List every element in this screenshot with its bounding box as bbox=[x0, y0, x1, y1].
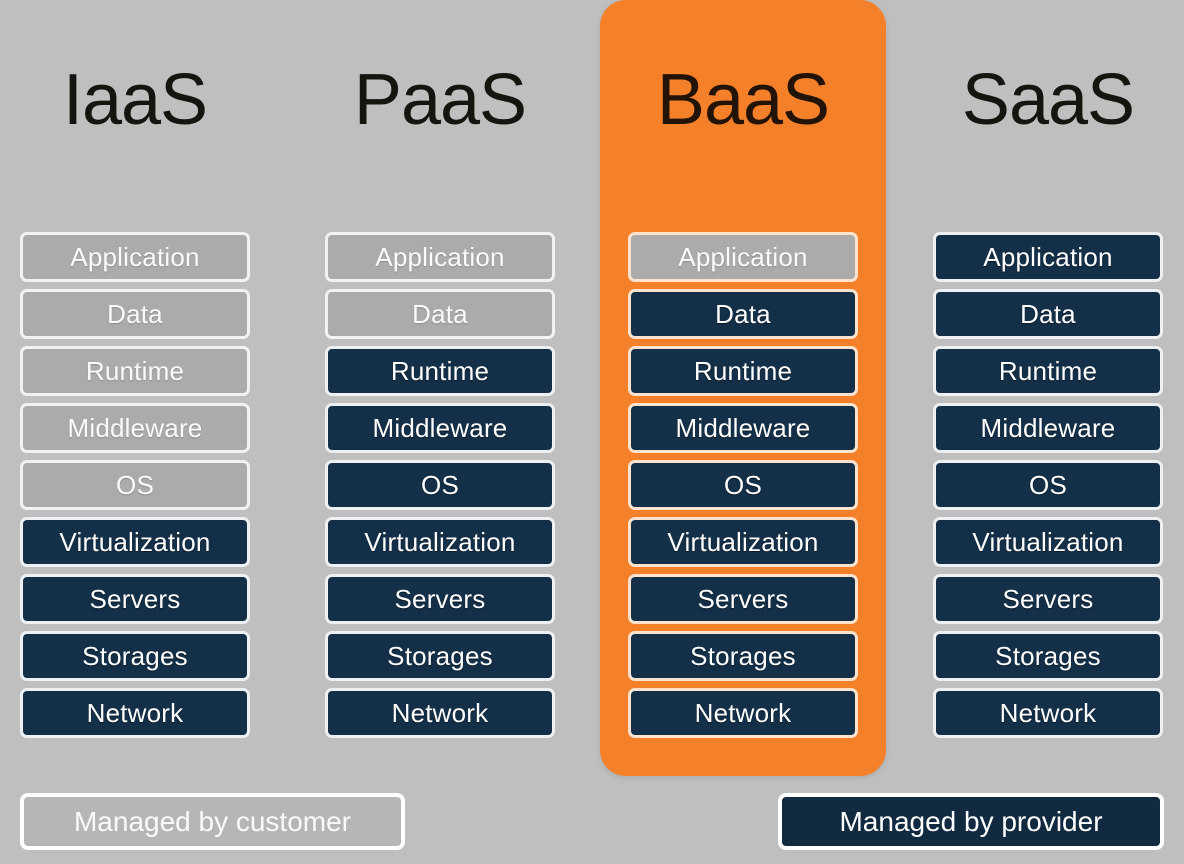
cloud-service-model-diagram: IaaS Application Data Runtime Middleware… bbox=[0, 0, 1184, 864]
legend-managed-by-customer: Managed by customer bbox=[20, 793, 405, 850]
layer-row: Servers bbox=[325, 574, 555, 624]
layer-label: OS bbox=[421, 470, 459, 501]
layer-row: OS bbox=[628, 460, 858, 510]
layer-label: Servers bbox=[698, 584, 789, 615]
layer-row: Data bbox=[933, 289, 1163, 339]
layer-label: Servers bbox=[1003, 584, 1094, 615]
layer-row: Application bbox=[933, 232, 1163, 282]
layer-label: Data bbox=[107, 299, 163, 330]
layer-row: Virtualization bbox=[628, 517, 858, 567]
layer-label: Network bbox=[392, 698, 489, 729]
layer-label: Runtime bbox=[391, 356, 489, 387]
legend-provider-label: Managed by provider bbox=[839, 806, 1102, 838]
layer-label: Virtualization bbox=[59, 527, 210, 558]
layer-row: Data bbox=[20, 289, 250, 339]
layer-label: Data bbox=[1020, 299, 1076, 330]
layer-row: Application bbox=[325, 232, 555, 282]
layer-row: Middleware bbox=[933, 403, 1163, 453]
column-title-baas: BaaS bbox=[628, 58, 858, 142]
layer-row: Middleware bbox=[20, 403, 250, 453]
layer-row: Network bbox=[20, 688, 250, 738]
layer-label: Application bbox=[375, 242, 504, 273]
layer-row: Storages bbox=[20, 631, 250, 681]
layer-label: Application bbox=[70, 242, 199, 273]
layer-label: Virtualization bbox=[364, 527, 515, 558]
layer-label: Middleware bbox=[981, 413, 1116, 444]
layer-label: Application bbox=[678, 242, 807, 273]
layer-row: Storages bbox=[933, 631, 1163, 681]
layer-row: Runtime bbox=[628, 346, 858, 396]
layer-label: Network bbox=[87, 698, 184, 729]
layer-label: Middleware bbox=[373, 413, 508, 444]
legend-managed-by-provider: Managed by provider bbox=[778, 793, 1164, 850]
column-title-saas: SaaS bbox=[933, 58, 1163, 142]
layer-row: OS bbox=[20, 460, 250, 510]
layer-row: OS bbox=[933, 460, 1163, 510]
layer-label: Middleware bbox=[68, 413, 203, 444]
layer-label: OS bbox=[116, 470, 154, 501]
layer-row: Storages bbox=[325, 631, 555, 681]
layer-row: Network bbox=[628, 688, 858, 738]
layer-row: OS bbox=[325, 460, 555, 510]
layer-stack-saas: Application Data Runtime Middleware OS V… bbox=[933, 232, 1163, 745]
layer-row: Application bbox=[20, 232, 250, 282]
column-title-paas: PaaS bbox=[325, 58, 555, 142]
layer-label: Storages bbox=[995, 641, 1101, 672]
layer-row: Runtime bbox=[325, 346, 555, 396]
layer-label: Runtime bbox=[999, 356, 1097, 387]
layer-row: Data bbox=[325, 289, 555, 339]
layer-label: Virtualization bbox=[972, 527, 1123, 558]
layer-row: Virtualization bbox=[325, 517, 555, 567]
layer-stack-baas: Application Data Runtime Middleware OS V… bbox=[628, 232, 858, 745]
layer-row: Network bbox=[933, 688, 1163, 738]
layer-row: Storages bbox=[628, 631, 858, 681]
layer-label: OS bbox=[1029, 470, 1067, 501]
layer-label: Storages bbox=[82, 641, 188, 672]
layer-label: Network bbox=[1000, 698, 1097, 729]
layer-stack-iaas: Application Data Runtime Middleware OS V… bbox=[20, 232, 250, 745]
layer-row: Servers bbox=[20, 574, 250, 624]
layer-label: Runtime bbox=[86, 356, 184, 387]
layer-label: Servers bbox=[90, 584, 181, 615]
layer-label: Storages bbox=[387, 641, 493, 672]
layer-row: Application bbox=[628, 232, 858, 282]
layer-row: Data bbox=[628, 289, 858, 339]
column-title-iaas: IaaS bbox=[20, 58, 250, 142]
layer-label: Network bbox=[695, 698, 792, 729]
layer-row: Servers bbox=[933, 574, 1163, 624]
layer-stack-paas: Application Data Runtime Middleware OS V… bbox=[325, 232, 555, 745]
layer-label: Data bbox=[715, 299, 771, 330]
layer-row: Network bbox=[325, 688, 555, 738]
layer-label: Data bbox=[412, 299, 468, 330]
layer-row: Virtualization bbox=[20, 517, 250, 567]
layer-row: Virtualization bbox=[933, 517, 1163, 567]
layer-label: Application bbox=[983, 242, 1112, 273]
layer-row: Middleware bbox=[325, 403, 555, 453]
legend-customer-label: Managed by customer bbox=[74, 806, 351, 838]
layer-row: Runtime bbox=[20, 346, 250, 396]
layer-label: Servers bbox=[395, 584, 486, 615]
layer-label: OS bbox=[724, 470, 762, 501]
layer-label: Runtime bbox=[694, 356, 792, 387]
layer-label: Middleware bbox=[676, 413, 811, 444]
layer-row: Runtime bbox=[933, 346, 1163, 396]
layer-label: Virtualization bbox=[667, 527, 818, 558]
layer-row: Servers bbox=[628, 574, 858, 624]
layer-row: Middleware bbox=[628, 403, 858, 453]
layer-label: Storages bbox=[690, 641, 796, 672]
